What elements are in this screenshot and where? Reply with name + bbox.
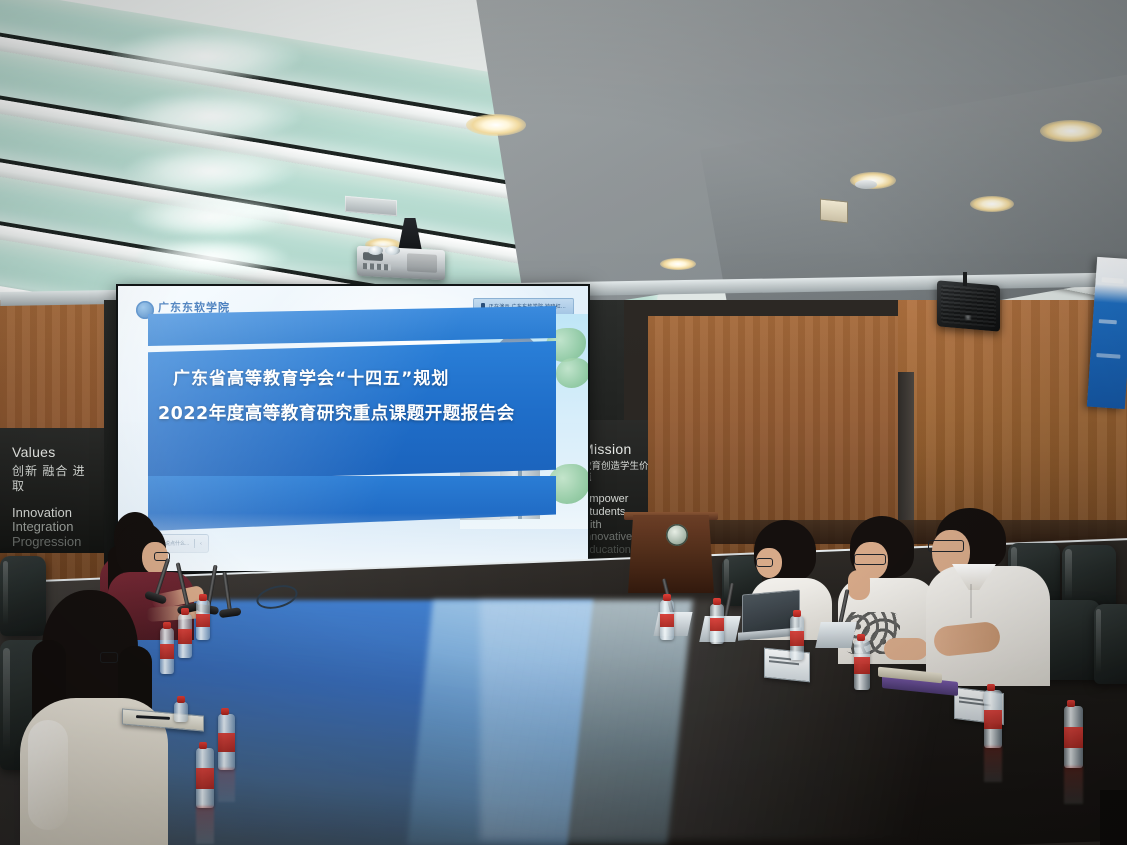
person-right-third	[926, 508, 1054, 686]
microphone-base	[815, 622, 857, 648]
water-bottle	[160, 628, 174, 674]
projector-lens-icon	[368, 246, 383, 255]
cove-light-glow	[125, 148, 295, 194]
downlight-icon	[466, 114, 526, 136]
conference-room-photo: Values 创新 融合 进取 Innovation Integration P…	[0, 0, 1127, 845]
cove-light-glow	[110, 30, 300, 82]
glasses-icon	[756, 558, 773, 567]
speaker-bracket	[963, 272, 967, 286]
water-bottle	[178, 614, 192, 658]
podium-emblem-icon	[666, 524, 688, 546]
water-bottle	[660, 600, 674, 640]
glasses-icon	[928, 540, 964, 552]
water-bottle	[218, 714, 235, 770]
values-en-2: Integration	[12, 520, 98, 535]
wall-speaker	[937, 280, 1000, 332]
person-left-foreground-glasses	[100, 652, 118, 663]
water-bottle	[854, 640, 870, 690]
values-en-1: Innovation	[12, 506, 98, 521]
values-en-3: Progression	[12, 535, 98, 550]
water-bottle	[196, 600, 210, 640]
values-chinese: 创新 融合 进取	[12, 464, 98, 494]
water-bottle	[196, 748, 214, 808]
bottle-reflection	[196, 806, 214, 844]
cove-light-glow	[138, 238, 288, 276]
water-bottle	[790, 616, 804, 660]
cove-light-glow	[120, 92, 300, 140]
bottle-reflection	[1064, 766, 1083, 804]
downlight-icon	[1040, 120, 1102, 142]
downlight-icon	[660, 258, 696, 270]
bottle-reflection	[984, 746, 1002, 782]
smoke-detector-icon	[855, 180, 877, 189]
mission-chinese: 教育创造学生价值	[582, 461, 652, 485]
ceiling	[0, 0, 1127, 300]
values-heading: Values	[12, 444, 98, 462]
bottle-reflection	[218, 768, 235, 802]
floor	[1100, 790, 1127, 845]
projector-lens-icon	[385, 246, 400, 255]
cove-light-glow	[130, 196, 290, 238]
water-bottle	[174, 702, 188, 722]
conference-chair[interactable]	[1094, 604, 1127, 684]
water-bottle	[1064, 706, 1083, 768]
glasses-icon	[854, 554, 886, 565]
values-panel: Values 创新 融合 进取 Innovation Integration P…	[12, 444, 98, 550]
wall-notice	[820, 199, 848, 224]
person-right-second	[838, 516, 938, 664]
mission-en-1: Empower	[582, 493, 652, 506]
water-bottle	[710, 604, 724, 644]
downlight-icon	[970, 196, 1014, 212]
mission-heading: Mission	[582, 441, 652, 459]
water-bottle	[984, 690, 1002, 748]
